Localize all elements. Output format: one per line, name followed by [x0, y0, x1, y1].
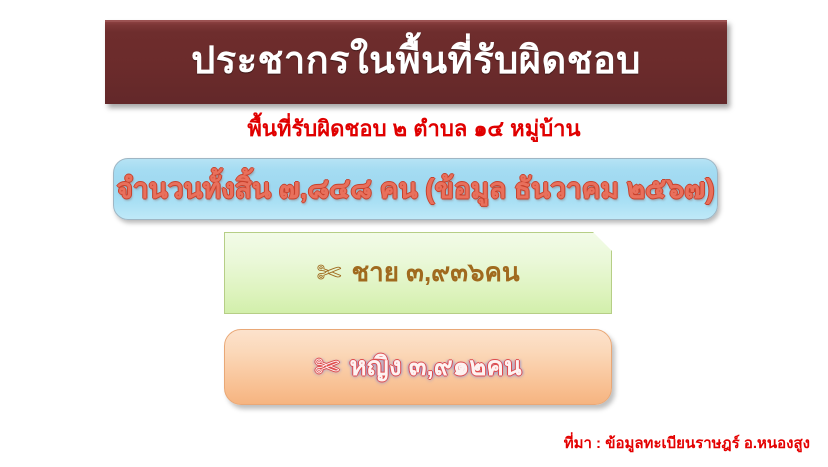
female-population-text: หญิง ๓,๙๑๒คน [350, 351, 522, 382]
title-banner: ประชากรในพื้นที่รับผิดชอบ [105, 20, 727, 104]
page-title: ประชากรในพื้นที่รับผิดชอบ [191, 42, 641, 84]
female-population-row: ✄ หญิง ๓,๙๑๒คน [314, 351, 521, 382]
source-note: ที่มา : ข้อมูลทะเบียนราษฎร์ อ.หนองสูง [564, 435, 810, 453]
scissors-icon: ✄ [316, 259, 341, 289]
slide-canvas: ประชากรในพื้นที่รับผิดชอบ พื้นที่รับผิดช… [0, 0, 828, 467]
male-population-text: ชาย ๓,๙๓๖คน [351, 257, 519, 288]
total-population-text: จำนวนทั้งสิ้น ๗,๘๔๘ คน (ข้อมูล ธันวาคม ๒… [116, 173, 714, 205]
subtitle-coverage-area: พื้นที่รับผิดชอบ ๒ ตำบล ๑๔ หมู่บ้าน [0, 116, 828, 142]
total-population-box: จำนวนทั้งสิ้น ๗,๘๔๘ คน (ข้อมูล ธันวาคม ๒… [113, 158, 718, 220]
scissors-icon: ✄ [314, 353, 339, 383]
male-population-box: ✄ ชาย ๓,๙๓๖คน [224, 232, 612, 314]
female-population-box: ✄ หญิง ๓,๙๑๒คน [224, 329, 612, 405]
male-population-row: ✄ ชาย ๓,๙๓๖คน [316, 257, 519, 288]
